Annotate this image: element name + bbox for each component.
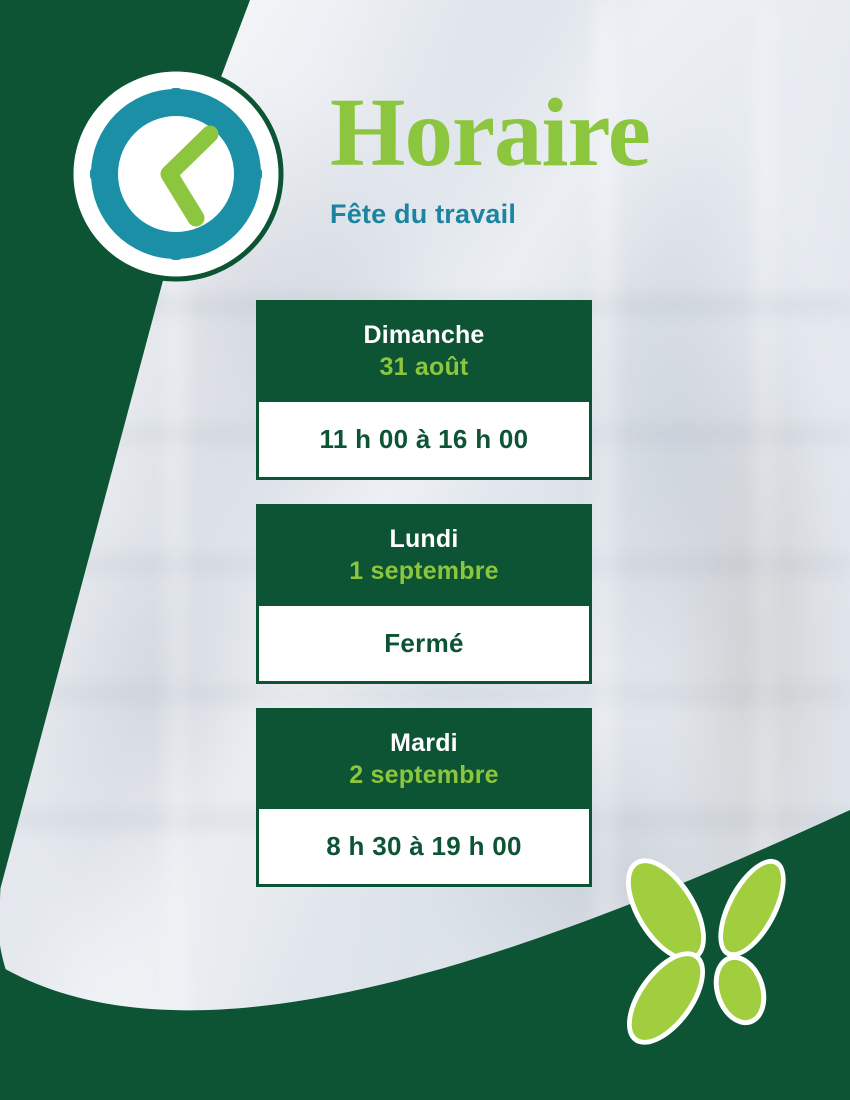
page-title: Horaire [330, 84, 650, 183]
page-subtitle: Fête du travail [330, 199, 650, 230]
schedule-date: 2 septembre [266, 759, 582, 792]
schedule-date: 1 septembre [266, 555, 582, 588]
schedule-card-header: Dimanche 31 août [256, 300, 592, 402]
schedule-poster: Horaire Fête du travail Dimanche 31 août… [0, 0, 850, 1100]
schedule-hours: Fermé [269, 628, 579, 659]
schedule-list: Dimanche 31 août 11 h 00 à 16 h 00 Lundi… [256, 300, 592, 911]
schedule-day: Mardi [266, 728, 582, 759]
schedule-card-header: Lundi 1 septembre [256, 504, 592, 606]
header-titles: Horaire Fête du travail [330, 84, 650, 230]
butterfly-logo-icon [612, 858, 812, 1058]
schedule-card: Lundi 1 septembre Fermé [256, 504, 592, 684]
schedule-day: Dimanche [266, 320, 582, 351]
schedule-card: Mardi 2 septembre 8 h 30 à 19 h 00 [256, 708, 592, 888]
schedule-hours: 8 h 30 à 19 h 00 [269, 831, 579, 862]
schedule-card-body: Fermé [256, 606, 592, 684]
schedule-hours: 11 h 00 à 16 h 00 [269, 424, 579, 455]
schedule-card-body: 8 h 30 à 19 h 00 [256, 809, 592, 887]
schedule-card-body: 11 h 00 à 16 h 00 [256, 402, 592, 480]
schedule-date: 31 août [266, 351, 582, 384]
schedule-card: Dimanche 31 août 11 h 00 à 16 h 00 [256, 300, 592, 480]
schedule-day: Lundi [266, 524, 582, 555]
clock-icon [68, 66, 284, 282]
schedule-card-header: Mardi 2 septembre [256, 708, 592, 810]
